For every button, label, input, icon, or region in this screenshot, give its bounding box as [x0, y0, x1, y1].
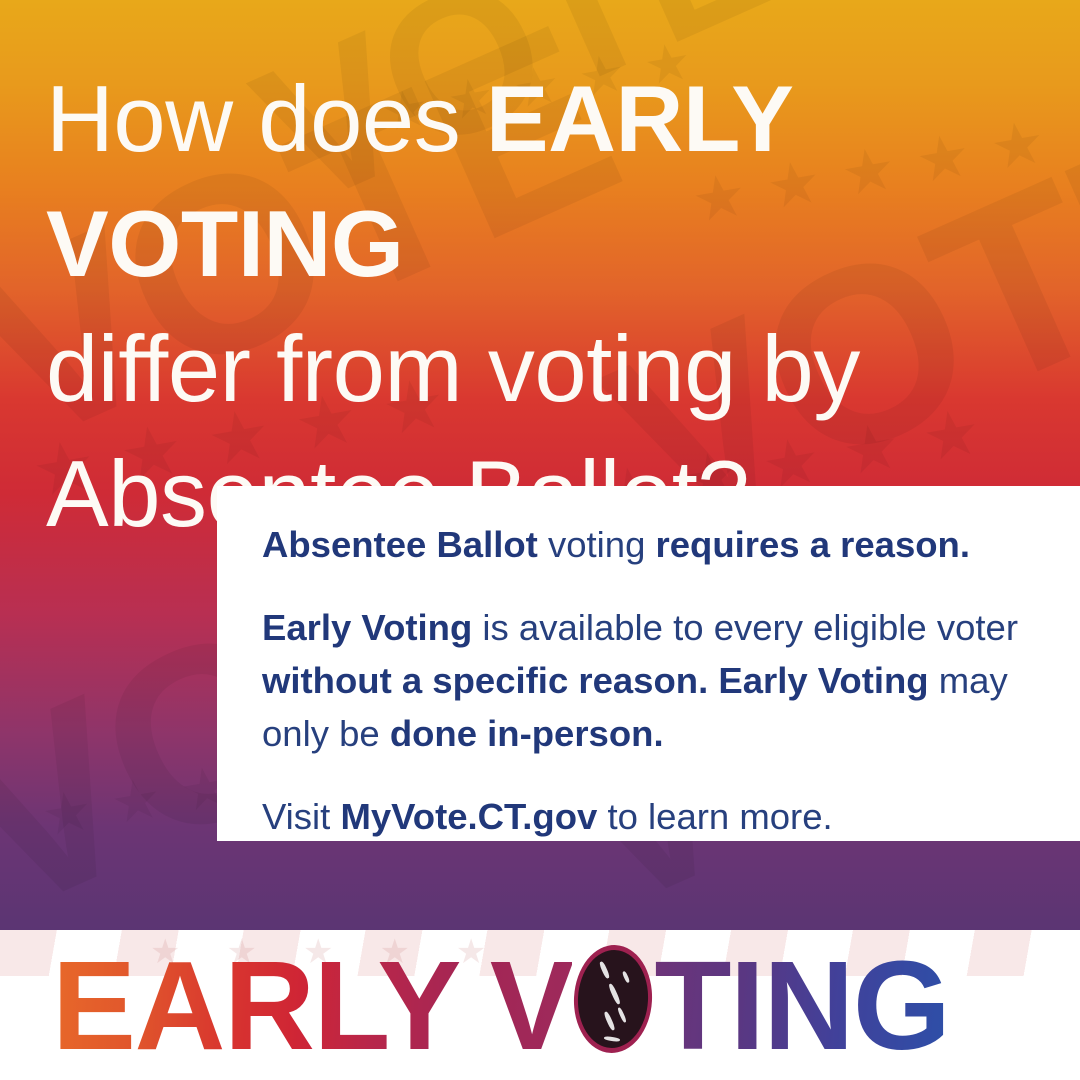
headline-line1-plain: How does	[46, 66, 486, 171]
headline-line2: differ from voting by	[46, 316, 860, 421]
early-voting-text-1: is available to every eligible voter	[472, 607, 1018, 648]
page-title: How does EARLY VOTING differ from voting…	[46, 56, 1056, 556]
early-voting-infographic: VOTE VOTE VOTE VOTE VOTE ★★★★★ ★★★★★ ★★★…	[0, 0, 1080, 1080]
early-voting-emphasis: Early Voting	[262, 607, 472, 648]
absentee-ballot-emphasis: Absentee Ballot	[262, 524, 538, 565]
in-person-emphasis: done in-person.	[390, 713, 664, 754]
logo-word-early: EARLY	[52, 950, 460, 1062]
logo-letters-ting: TING	[654, 950, 949, 1062]
learn-more-text: to learn more.	[597, 796, 832, 837]
info-card: Absentee Ballot voting requires a reason…	[217, 486, 1080, 841]
absentee-voting-text: voting	[538, 524, 656, 565]
without-reason-emphasis: without a specific reason. Early Voting	[262, 660, 929, 701]
requires-reason-emphasis: requires a reason.	[656, 524, 970, 565]
early-voting-logo: EARLY V TING	[52, 941, 949, 1053]
logo-letter-v: V	[490, 950, 573, 1062]
myvote-website-link[interactable]: MyVote.CT.gov	[340, 796, 597, 837]
card-paragraph-early-voting: Early Voting is available to every eligi…	[262, 602, 1020, 761]
card-paragraph-absentee: Absentee Ballot voting requires a reason…	[262, 519, 1020, 572]
card-paragraph-visit: Visit MyVote.CT.gov to learn more.	[262, 791, 1020, 844]
visit-text: Visit	[262, 796, 340, 837]
filled-ballot-bubble-icon	[574, 945, 652, 1053]
